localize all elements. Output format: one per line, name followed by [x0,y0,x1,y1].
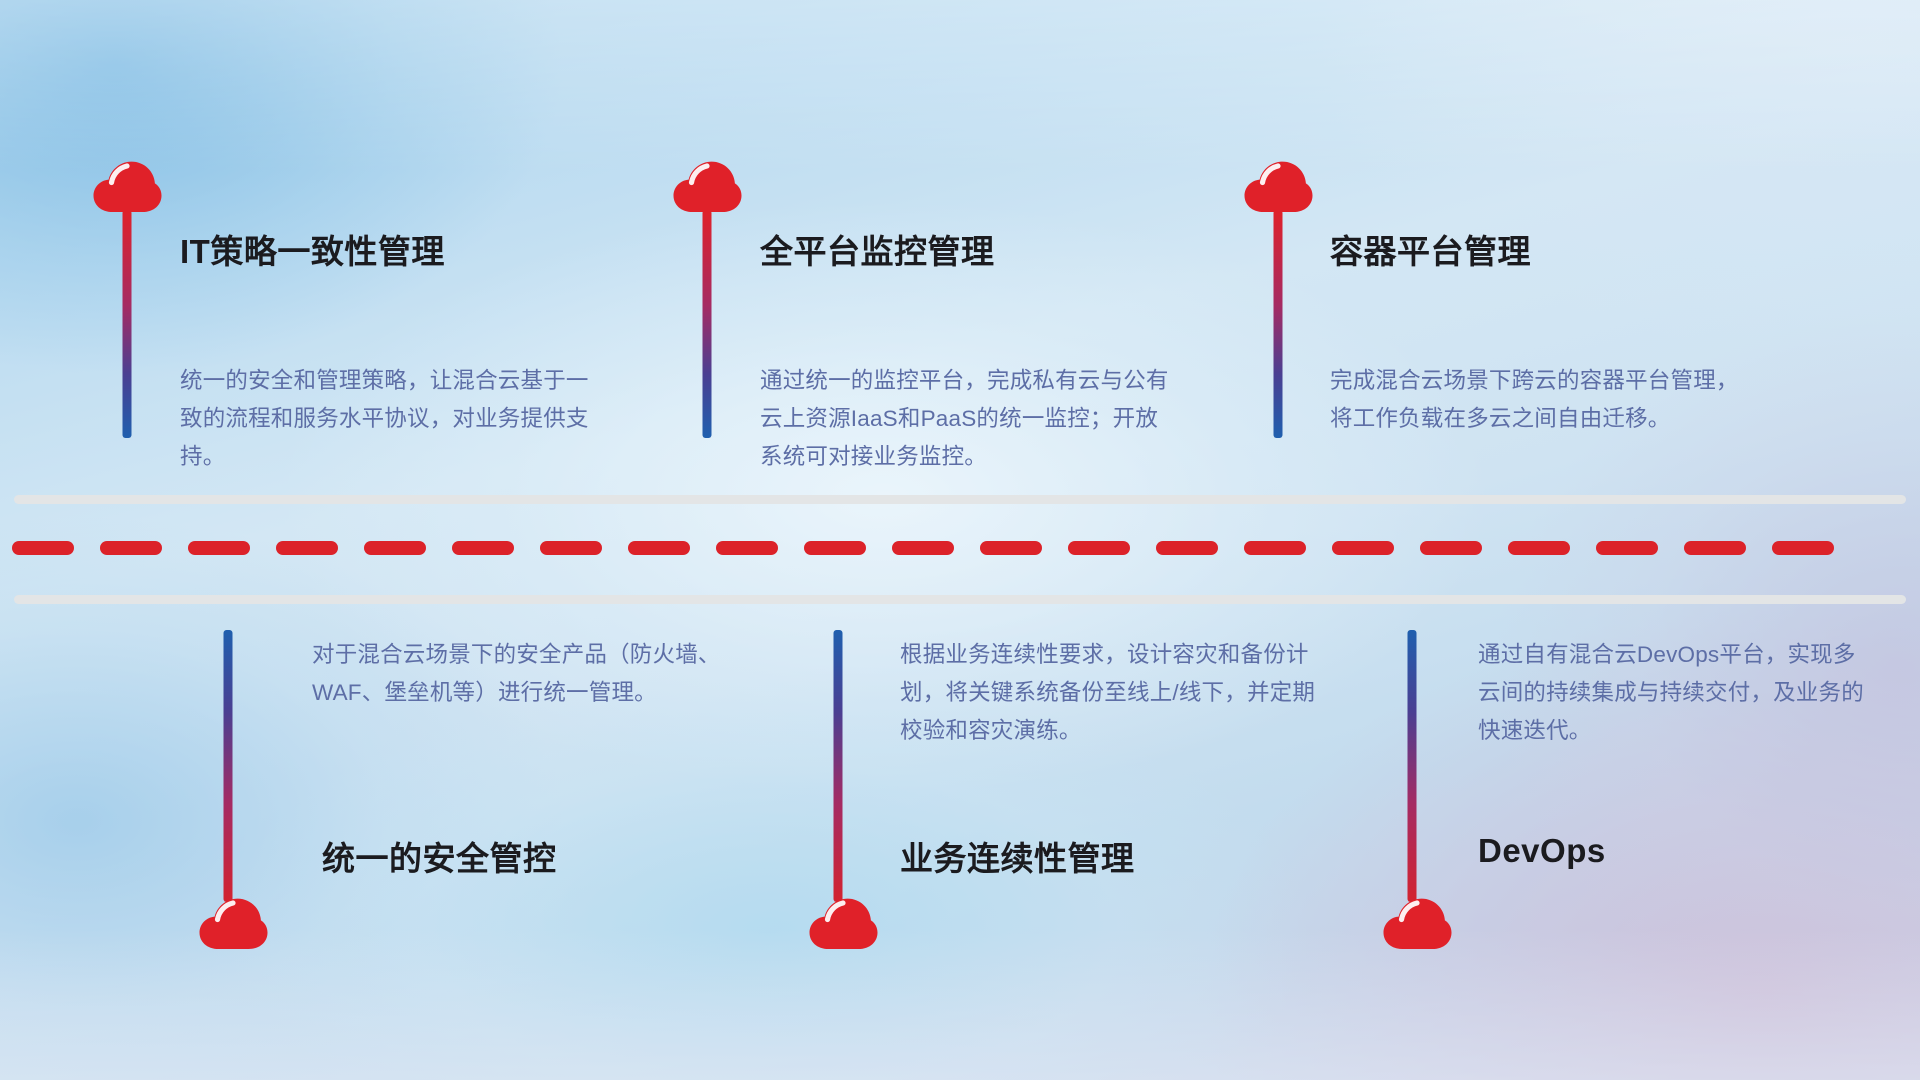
top-body-1: 统一的安全和管理策略，让混合云基于一致的流程和服务水平协议，对业务提供支持。 [180,362,600,476]
road-dash-segment [540,541,602,555]
pin-top-2 [672,158,742,214]
road-dash-segment [1508,541,1570,555]
road-dash-segment [1684,541,1746,555]
road-dash-segment [1156,541,1218,555]
cloud-icon [198,895,268,951]
bottom-body-2: 根据业务连续性要求，设计容灾和备份计划，将关键系统备份至线上/线下，并定期校验和… [900,636,1320,750]
top-title-3: 容器平台管理 [1330,225,1531,273]
cloud-icon [1382,895,1452,951]
road-dash-segment [100,541,162,555]
road-dash-segment [980,541,1042,555]
road-dash-segment [276,541,338,555]
top-body-2: 通过统一的监控平台，完成私有云与公有云上资源IaaS和PaaS的统一监控；开放系… [760,362,1180,476]
road-dash-segment [892,541,954,555]
pin-bar [703,210,712,438]
road-dash-segment [628,541,690,555]
top-title-2: 全平台监控管理 [760,225,995,273]
road-dash-segment [452,541,514,555]
pin-bar [834,630,843,902]
cloud-icon [672,158,742,214]
road-dashed-centerline [0,541,1920,555]
pin-top-3 [1243,158,1313,214]
road-dash-segment [1244,541,1306,555]
cloud-icon [92,158,162,214]
road-dash-segment [1772,541,1834,555]
pin-bar [224,630,233,902]
road-divider [0,495,1920,605]
top-title-1: IT策略一致性管理 [180,225,445,273]
road-dash-segment [364,541,426,555]
infographic-canvas: IT策略一致性管理 统一的安全和管理策略，让混合云基于一致的流程和服务水平协议，… [0,0,1920,1080]
road-dash-segment [188,541,250,555]
pin-top-1 [92,158,162,214]
bottom-title-1: 统一的安全管控 [322,832,557,880]
top-body-3: 完成混合云场景下跨云的容器平台管理，将工作负载在多云之间自由迁移。 [1330,362,1750,438]
bottom-title-3: DevOps [1478,832,1606,870]
pin-bar [1274,210,1283,438]
road-dash-segment [12,541,74,555]
pin-bar [1408,630,1417,902]
road-dash-segment [1068,541,1130,555]
bottom-body-3: 通过自有混合云DevOps平台，实现多云间的持续集成与持续交付，及业务的快速迭代… [1478,636,1878,750]
cloud-icon [1243,158,1313,214]
road-dash-segment [1420,541,1482,555]
road-dash-segment [716,541,778,555]
road-dash-segment [1332,541,1394,555]
pin-bar [123,210,132,438]
bottom-body-1: 对于混合云场景下的安全产品（防火墙、WAF、堡垒机等）进行统一管理。 [312,636,732,712]
road-edge-bottom [14,595,1906,604]
bottom-title-2: 业务连续性管理 [900,832,1135,880]
road-dash-segment [1596,541,1658,555]
road-edge-top [14,495,1906,504]
cloud-icon [808,895,878,951]
road-dash-segment [804,541,866,555]
